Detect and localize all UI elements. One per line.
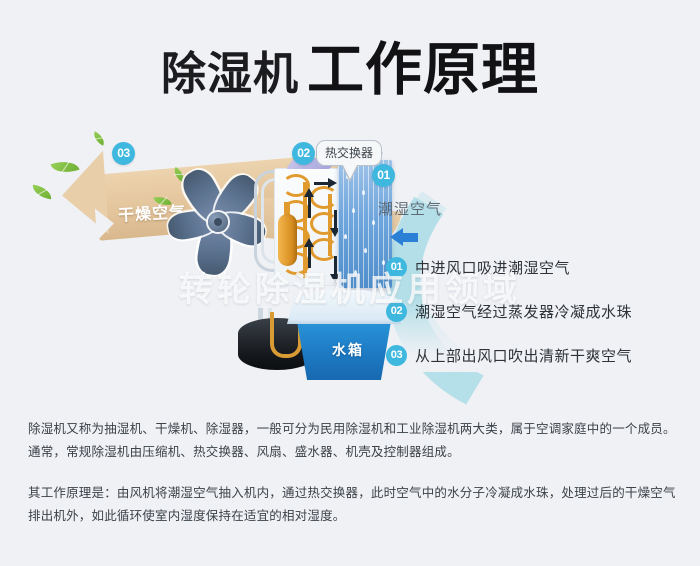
refrigerant-receiver [278, 214, 297, 266]
humid-air-label: 潮湿空气 [378, 198, 442, 219]
air-inlet-arrow-stem [402, 233, 418, 242]
water-droplet-icon [352, 208, 355, 213]
water-droplet-icon [382, 260, 385, 265]
step-text-01: 中进风口吸进潮湿空气 [415, 257, 570, 278]
diagram-badge-03: 03 [112, 142, 135, 165]
page-title-part1: 除湿机 [161, 48, 299, 99]
page-title-part2: 工作原理 [307, 38, 539, 102]
water-tank-label: 水箱 [318, 340, 378, 360]
leaf-icon [31, 185, 52, 200]
step-item-03: 03 从上部出风口吹出清新干爽空气 [386, 338, 686, 372]
description-block: 除湿机又称为抽湿机、干燥机、除湿器，一般可分为民用除湿机和工业除湿机两大类，属于… [28, 418, 676, 528]
flow-arrow-up-icon [304, 238, 314, 247]
flow-arrow-stem [334, 210, 337, 230]
page-title: 除湿机工作原理 [0, 24, 700, 106]
diagram-badge-02: 02 [292, 142, 315, 165]
copper-coil [310, 186, 338, 209]
copper-coil-riser [328, 194, 332, 256]
flow-arrow-stem [308, 246, 311, 268]
step-list: 01 中进风口吸进潮湿空气 02 潮湿空气经过蒸发器冷凝成水珠 03 从上部出风… [386, 250, 686, 382]
heat-exchanger-callout: 热交换器 [316, 140, 382, 166]
step-badge-01: 01 [386, 257, 407, 278]
leaf-icon [91, 131, 108, 146]
fan-hub [208, 212, 228, 232]
water-droplet-icon [364, 248, 367, 253]
step-item-01: 01 中进风口吸进潮湿空气 [386, 250, 686, 284]
step-badge-02: 02 [386, 301, 407, 322]
flow-arrow-up-icon [304, 188, 314, 197]
step-text-02: 潮湿空气经过蒸发器冷凝成水珠 [415, 301, 632, 322]
step-text-03: 从上部出风口吹出清新干爽空气 [415, 345, 632, 366]
flow-arrow-stem [334, 256, 337, 276]
water-droplet-icon [354, 270, 357, 275]
description-paragraph-1: 除湿机又称为抽湿机、干燥机、除湿器，一般可分为民用除湿机和工业除湿机两大类，属于… [28, 418, 676, 464]
water-droplet-icon [362, 190, 365, 195]
step-item-02: 02 潮湿空气经过蒸发器冷凝成水珠 [386, 294, 686, 328]
flow-arrow-stem [314, 182, 330, 185]
description-paragraph-2: 其工作原理是：由风机将潮湿空气抽入机内，通过热交换器，此时空气中的水分子冷凝成水… [28, 482, 676, 528]
dry-air-arrow-notch [95, 207, 115, 240]
water-droplet-icon [372, 220, 375, 225]
water-droplet-icon [344, 234, 347, 239]
flow-arrow-stem [308, 196, 311, 218]
step-badge-03: 03 [386, 345, 407, 366]
diagram-badge-01: 01 [372, 164, 395, 187]
